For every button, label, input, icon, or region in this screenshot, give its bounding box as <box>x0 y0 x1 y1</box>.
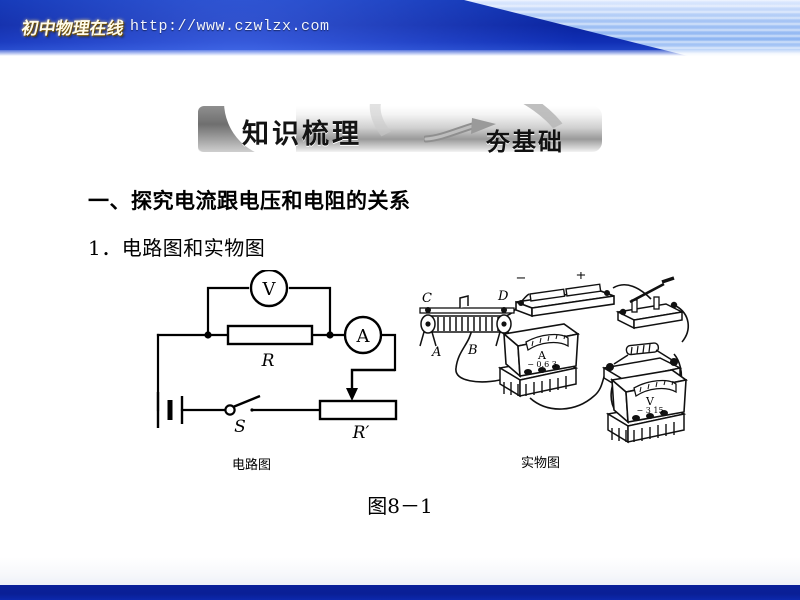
physical-apparatus-diagram: − + C D A B <box>408 272 738 452</box>
ammeter-label: A <box>356 326 371 347</box>
footer-blue-bar <box>0 585 800 600</box>
rheostat-wiper-arrow <box>346 388 358 401</box>
site-header-banner: 初中物理在线 http://www.czwlzx.com <box>0 0 800 56</box>
rheostat-terminal-c-label: C <box>422 291 432 306</box>
switch-label: S <box>234 417 246 437</box>
battery-plus-label: + <box>576 272 587 283</box>
battery-minus-label: − <box>516 272 527 286</box>
figure-container: V A R S R′ <box>0 270 800 520</box>
caption-circuit-diagram: 电路图 <box>232 454 271 473</box>
circuit-schematic-diagram: V A R S R′ <box>140 270 410 450</box>
ammeter-apparatus: A − 0.6 3 <box>500 324 578 396</box>
junction-dot-left <box>204 331 211 338</box>
voltmeter-label: V <box>262 279 277 300</box>
rheostat-terminal-d-label: D <box>497 289 509 304</box>
resistor-symbol <box>228 326 312 344</box>
rheostat-wiper-wire <box>352 370 395 388</box>
banner-title-sub: 夯基础 <box>486 122 564 157</box>
figure-number-label: 图8－1 <box>0 490 800 519</box>
header-brand-group: 初中物理在线 http://www.czwlzx.com <box>22 11 330 41</box>
voltmeter-apparatus: V − 3 15 <box>608 370 686 442</box>
resistor-label: R <box>261 351 275 371</box>
rheostat-label: R′ <box>352 423 370 443</box>
page-heading-secondary: 1．电路图和实物图 <box>88 232 265 261</box>
rheostat-symbol <box>320 401 396 419</box>
footer-fade-strip <box>0 557 800 585</box>
section-title-banner: 知识梳理 夯基础 <box>198 100 602 156</box>
banner-title-main: 知识梳理 <box>242 112 362 151</box>
junction-dot-right <box>326 331 333 338</box>
switch-symbol <box>225 396 260 415</box>
battery-symbol <box>158 392 182 428</box>
voltmeter-range-label: − 3 15 <box>636 406 663 415</box>
ammeter-range-label: − 0.6 3 <box>527 360 557 369</box>
caption-physical-diagram: 实物图 <box>521 452 560 471</box>
rheostat-terminal-b-label: B <box>467 343 478 358</box>
site-logo: 初中物理在线 <box>20 14 126 39</box>
battery-pack <box>516 284 614 316</box>
rheostat-terminal-a-label: A <box>431 345 441 360</box>
page-heading-primary: 一、探究电流跟电压和电阻的关系 <box>88 185 411 215</box>
site-url-text: http://www.czwlzx.com <box>130 18 330 35</box>
